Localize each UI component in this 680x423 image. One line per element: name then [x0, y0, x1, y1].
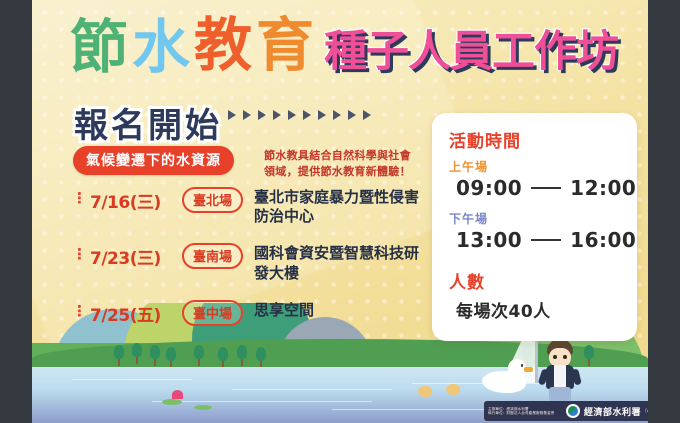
theme-badge: 氣候變遷下的水資源 [73, 146, 234, 175]
bullet-icon: ⋮ [72, 247, 87, 262]
tree-icon [166, 347, 176, 367]
afternoon-end: 16:00 [570, 228, 636, 252]
title-char-1: 節 [70, 18, 128, 76]
lilypad-icon [162, 399, 182, 405]
arrow-row-icon [228, 110, 371, 120]
morning-end: 12:00 [570, 176, 636, 200]
title-char-4: 育 [256, 16, 314, 74]
event-date: 7/25(五) [90, 301, 182, 326]
afternoon-time-range: 13:00 16:00 [456, 228, 637, 252]
footer-bar: 主辦單位：經濟部水利署 執行單位：財團法人台灣產業服務基金會 經濟部水利署 (w… [484, 401, 648, 421]
afternoon-start: 13:00 [456, 228, 522, 252]
capacity-heading: 人數 [449, 268, 637, 293]
lilypad-icon [194, 405, 212, 410]
event-region-badge: 臺北場 [182, 187, 243, 213]
title-char-3: 教 [194, 16, 252, 74]
tree-icon [237, 345, 247, 365]
right-letterbox-bar [648, 0, 680, 423]
tree-icon [256, 347, 266, 367]
bullet-icon: ⋮ [72, 304, 87, 319]
tree-icon [218, 347, 228, 367]
afternoon-label: 下午場 [449, 210, 637, 227]
tree-icon [584, 345, 594, 365]
time-heading: 活動時間 [449, 127, 637, 152]
info-card: 活動時間 上午場 09:00 12:00 下午場 13:00 16:00 人數 … [432, 113, 637, 341]
tree-icon [194, 345, 204, 365]
event-date: 7/23(三) [90, 244, 182, 269]
capacity-value: 每場次40人 [456, 297, 637, 322]
description-text: 節水教具結合自然科學與社會領域，提供節水教育新體驗！ [264, 148, 414, 180]
event-region-badge: 臺中場 [182, 300, 243, 326]
lotus-flower-icon [172, 390, 183, 399]
poster-title: 節 水 教 育 [70, 16, 640, 88]
tree-icon [150, 345, 160, 365]
event-row[interactable]: ⋮ 7/25(五) 臺中場 思享空間 [72, 301, 422, 326]
event-date: 7/16(三) [90, 188, 182, 213]
tree-icon [114, 345, 124, 365]
event-row[interactable]: ⋮ 7/16(三) 臺北場 臺北市家庭暴力暨性侵害防治中心 [72, 188, 422, 226]
duck-icon [482, 359, 528, 393]
tree-icon [132, 343, 142, 363]
time-dash-icon [531, 239, 561, 241]
agency-name: 經濟部水利署 [584, 405, 641, 418]
title-char-2: 水 [132, 18, 190, 76]
agency-logo-icon [566, 404, 580, 418]
footer-line-2: 執行單位：財團法人台灣產業服務基金會 [488, 411, 562, 415]
event-venue: 臺北市家庭暴力暨性侵害防治中心 [254, 188, 422, 226]
duckling-icon [418, 386, 432, 397]
signup-heading: 報名開始 [74, 98, 222, 147]
poster-canvas: 節 水 教 育 種子人員工作坊 報名開始 氣候變遷下的水資源 節水教具結合自然科… [32, 0, 648, 423]
duckling-icon [446, 384, 460, 395]
morning-label: 上午場 [449, 158, 637, 175]
event-region-badge: 臺南場 [182, 243, 243, 269]
footer-org-lines: 主辦單位：經濟部水利署 執行單位：財團法人台灣產業服務基金會 [488, 407, 562, 415]
left-letterbox-bar [0, 0, 32, 423]
time-dash-icon [531, 187, 561, 189]
poster-root: 節 水 教 育 種子人員工作坊 報名開始 氣候變遷下的水資源 節水教具結合自然科… [0, 0, 680, 423]
event-venue: 思享空間 [254, 301, 314, 320]
event-row[interactable]: ⋮ 7/23(三) 臺南場 國科會資安暨智慧科技研發大樓 [72, 244, 422, 282]
boy-character-illustration [538, 339, 582, 401]
morning-start: 09:00 [456, 176, 522, 200]
event-venue: 國科會資安暨智慧科技研發大樓 [254, 244, 422, 282]
bullet-icon: ⋮ [72, 191, 87, 206]
event-list: ⋮ 7/16(三) 臺北場 臺北市家庭暴力暨性侵害防治中心 ⋮ 7/23(三) … [72, 188, 422, 344]
morning-time-range: 09:00 12:00 [456, 176, 637, 200]
